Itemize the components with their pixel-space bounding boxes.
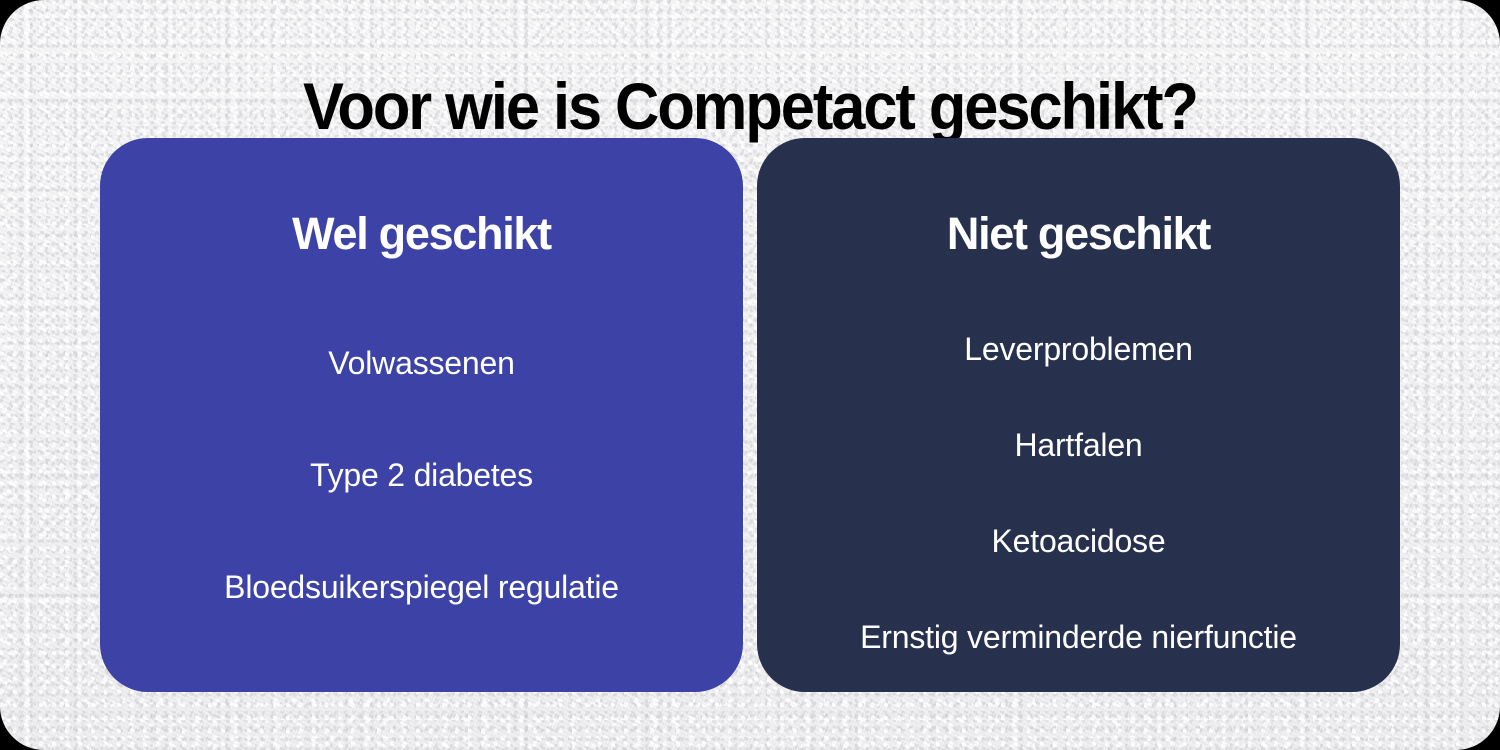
list-item: Ketoacidose [992,521,1166,561]
list-item: Type 2 diabetes [310,455,533,495]
list-item: Leverproblemen [964,329,1192,369]
comparison-card-group: Wel geschikt Volwassenen Type 2 diabetes… [100,138,1400,692]
wel-geschikt-item-list: Volwassenen Type 2 diabetes Bloedsuikers… [126,296,717,662]
card-niet-geschikt: Niet geschikt Leverproblemen Hartfalen K… [757,138,1400,692]
niet-geschikt-item-list: Leverproblemen Hartfalen Ketoacidose Ern… [783,296,1374,662]
list-item: Ernstig verminderde nierfunctie [860,617,1297,657]
card-title-wel-geschikt: Wel geschikt [292,209,551,259]
infographic-canvas: Voor wie is Competact geschikt? Wel gesc… [0,0,1500,750]
list-item: Bloedsuikerspiegel regulatie [224,567,619,607]
page-title: Voor wie is Competact geschikt? [53,70,1448,144]
list-item: Hartfalen [1014,425,1142,465]
card-wel-geschikt: Wel geschikt Volwassenen Type 2 diabetes… [100,138,743,692]
card-title-niet-geschikt: Niet geschikt [947,209,1210,259]
list-item: Volwassenen [328,343,514,383]
